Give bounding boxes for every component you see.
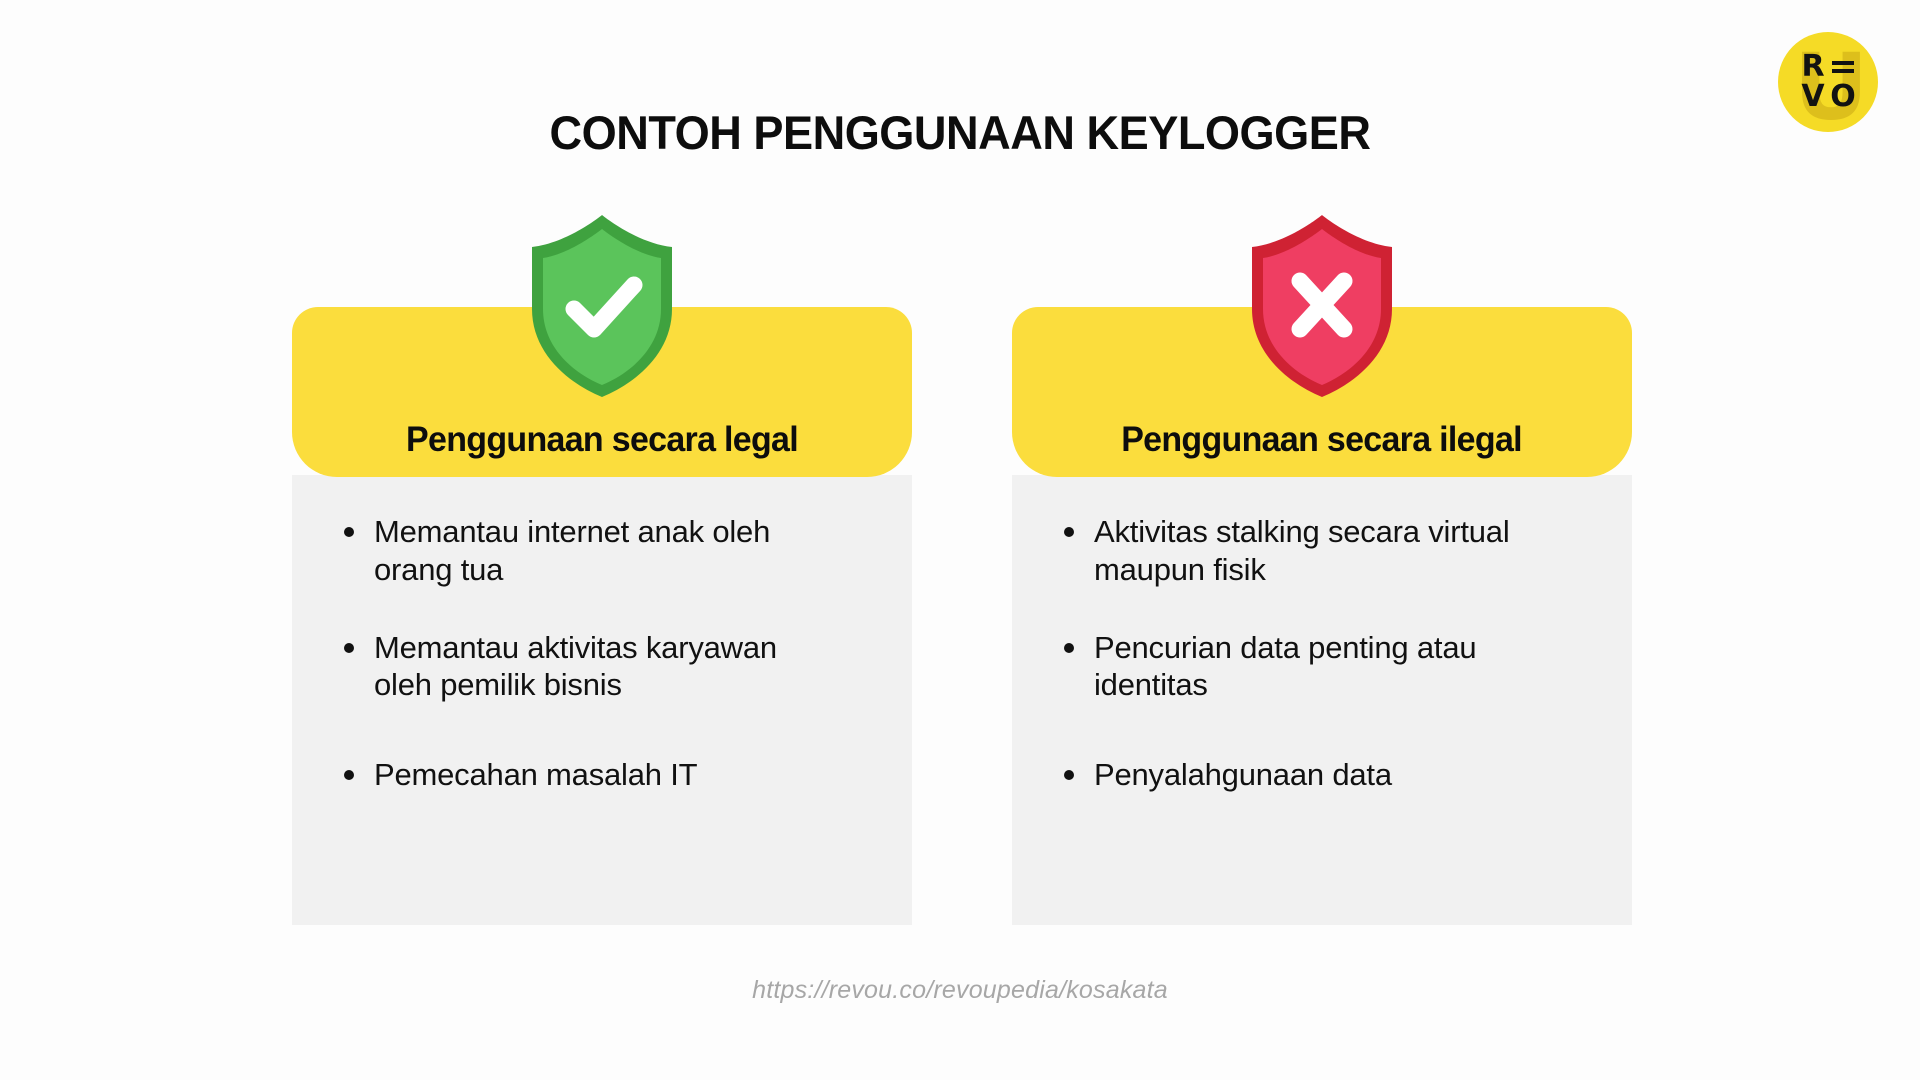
- card-ilegal-title: Penggunaan secara ilegal: [1122, 420, 1523, 460]
- red-shield-cross-icon: [1248, 213, 1396, 399]
- card-legal: Penggunaan secara legal Memantau interne…: [292, 307, 912, 925]
- logo-letter-r: R: [1801, 52, 1824, 82]
- card-legal-body: Memantau internet anak oleh orang tua Me…: [292, 475, 912, 925]
- green-shield-check-icon: [528, 213, 676, 399]
- page-title: CONTOH PENGGUNAAN KEYLOGGER: [38, 105, 1881, 160]
- ilegal-bullet-list: Aktivitas stalking secara virtual maupun…: [1052, 513, 1592, 794]
- list-item: Pencurian data penting atau identitas: [1052, 629, 1522, 705]
- list-item: Memantau internet anak oleh orang tua: [332, 513, 802, 589]
- list-item: Pemecahan masalah IT: [332, 756, 802, 794]
- list-item: Aktivitas stalking secara virtual maupun…: [1052, 513, 1522, 589]
- slide-canvas: U R V O CONTOH PENGGUNAAN KEYLOGGER Peng…: [0, 0, 1920, 1080]
- card-legal-title: Penggunaan secara legal: [406, 420, 798, 460]
- equals-bars-icon: [1832, 61, 1854, 73]
- card-ilegal: Penggunaan secara ilegal Aktivitas stalk…: [1012, 307, 1632, 925]
- source-url: https://revou.co/revoupedia/kosakata: [0, 976, 1920, 1005]
- logo-letter-v: V: [1801, 82, 1824, 112]
- logo-letter-o: O: [1830, 82, 1856, 112]
- legal-bullet-list: Memantau internet anak oleh orang tua Me…: [332, 513, 872, 794]
- list-item: Memantau aktivitas karyawan oleh pemilik…: [332, 629, 802, 705]
- card-ilegal-body: Aktivitas stalking secara virtual maupun…: [1012, 475, 1632, 925]
- logo-letter-grid: R V O: [1798, 52, 1858, 112]
- list-item: Penyalahgunaan data: [1052, 756, 1522, 794]
